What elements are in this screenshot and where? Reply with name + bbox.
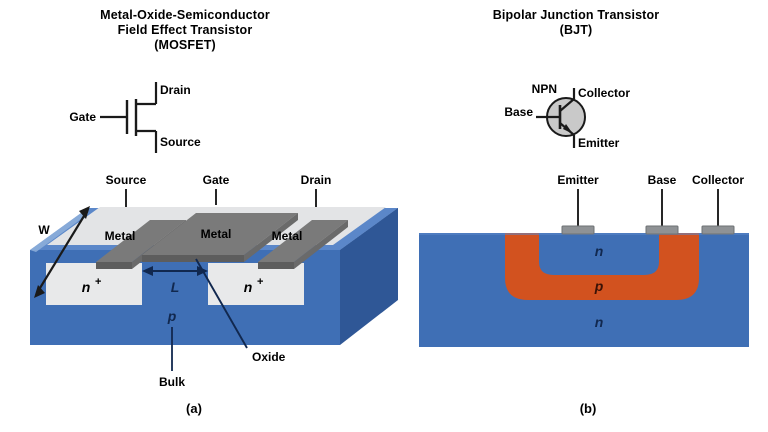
bjt-symbol-emitter-label: Emitter [578,136,620,150]
mosfet-nplus-source-sup: + [95,276,101,288]
bjt-collector-region-label: n [595,314,604,330]
bjt-symbol-collector-label: Collector [578,86,630,100]
mosfet-title-line3: (MOSFET) [154,38,216,52]
bjt-collector-contact-pad [702,226,734,234]
bjt-title-line1: Bipolar Junction Transistor [493,8,660,22]
mosfet-symbol-drain-label: Drain [160,83,191,97]
mosfet-title-line1: Metal-Oxide-Semiconductor [100,8,270,22]
bjt-caption: (b) [580,401,597,416]
mosfet-nplus-drain-rect [208,263,304,305]
mosfet-terminal-drain-label: Drain [301,173,332,187]
mosfet-symbol-source-label: Source [160,135,201,149]
mosfet-nplus-source-text: n [82,279,91,295]
bjt-symbol-base-label: Base [504,105,533,119]
mosfet-nplus-drain-text: n [244,279,253,295]
bjt-base-region-label: p [594,278,604,294]
bjt-symbol-type-label: NPN [532,82,557,96]
mosfet-terminal-gate-label: Gate [203,173,230,187]
mosfet-metal-left-label: Metal [105,229,136,243]
mosfet-substrate-label: p [167,308,177,324]
mosfet-caption: (a) [186,401,202,416]
mosfet-metal-right-label: Metal [272,229,303,243]
mosfet-nplus-source-rect [46,263,142,305]
mosfet-symbol-gate-label: Gate [69,110,96,124]
mosfet-length-label: L [171,279,180,295]
mosfet-metal-drain-front [258,262,294,269]
bjt-terminal-base-label: Base [648,173,677,187]
bjt-emitter-region-label: n [595,243,604,259]
mosfet-bulk-label: Bulk [159,375,185,389]
bjt-base-contact-pad [646,226,678,234]
mosfet-metal-gate-front [142,255,244,262]
bjt-title-line2: (BJT) [560,23,593,37]
mosfet-terminal-source-label: Source [106,173,147,187]
bjt-emitter-contact-pad [562,226,594,234]
mosfet-metal-source-front [96,262,132,269]
mosfet-metal-center-label: Metal [201,227,232,241]
bjt-terminal-collector-label: Collector [692,173,744,187]
figure-canvas: Metal-Oxide-Semiconductor Field Effect T… [0,0,768,432]
mosfet-oxide-label: Oxide [252,350,286,364]
mosfet-title-line2: Field Effect Transistor [118,23,253,37]
mosfet-width-label: W [38,223,50,237]
transistor-comparison-figure: Metal-Oxide-Semiconductor Field Effect T… [0,0,768,432]
bjt-terminal-emitter-label: Emitter [557,173,599,187]
mosfet-nplus-drain-sup: + [257,276,263,288]
